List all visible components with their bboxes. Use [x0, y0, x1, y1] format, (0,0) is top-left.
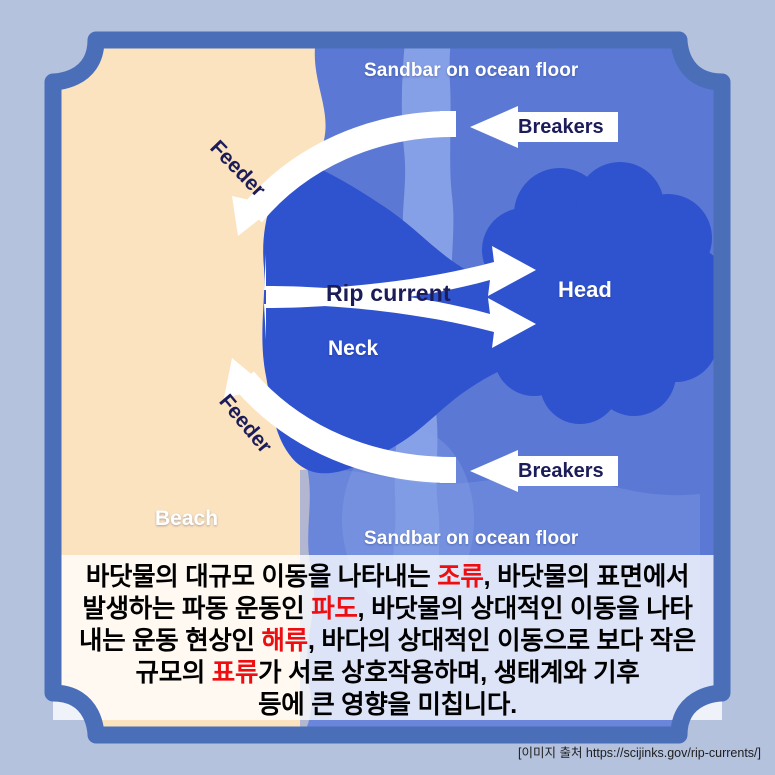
- frame-outline: [53, 40, 722, 735]
- poster-stage: Sandbar on ocean floor Sandbar on ocean …: [0, 0, 775, 775]
- decorative-frame: [0, 0, 775, 775]
- image-source-credit: [이미지 출처 https://scijinks.gov/rip-current…: [518, 742, 761, 761]
